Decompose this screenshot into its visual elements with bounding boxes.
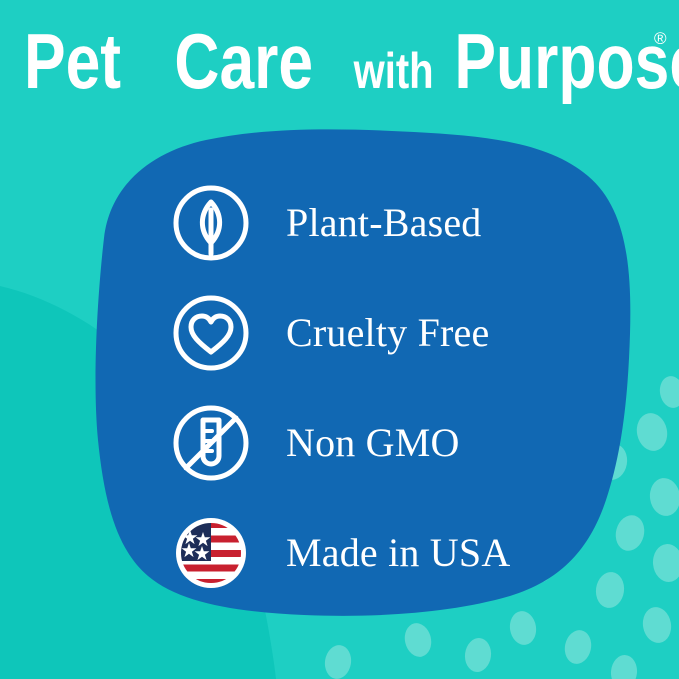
feature-label-non-gmo: Non GMO [286, 422, 568, 464]
heart-in-circle-icon [168, 290, 254, 376]
feature-row-made-in-usa: Made in USA [168, 506, 568, 600]
feature-list: Plant-Based Cruelty Free [168, 176, 568, 600]
feature-row-plant-based: Plant-Based [168, 176, 568, 270]
feature-label-cruelty-free: Cruelty Free [286, 312, 568, 354]
feature-label-made-in-usa: Made in USA [286, 532, 568, 574]
feature-label-plant-based: Plant-Based [286, 202, 568, 244]
feature-row-non-gmo: Non GMO [168, 396, 568, 490]
leaf-in-circle-icon [168, 180, 254, 266]
no-test-tube-icon [168, 400, 254, 486]
usa-flag-circle-icon [168, 510, 254, 596]
pet-care-poster: Pet Care with Purpose ® Plant-Based [0, 0, 679, 679]
feature-row-cruelty-free: Cruelty Free [168, 286, 568, 380]
